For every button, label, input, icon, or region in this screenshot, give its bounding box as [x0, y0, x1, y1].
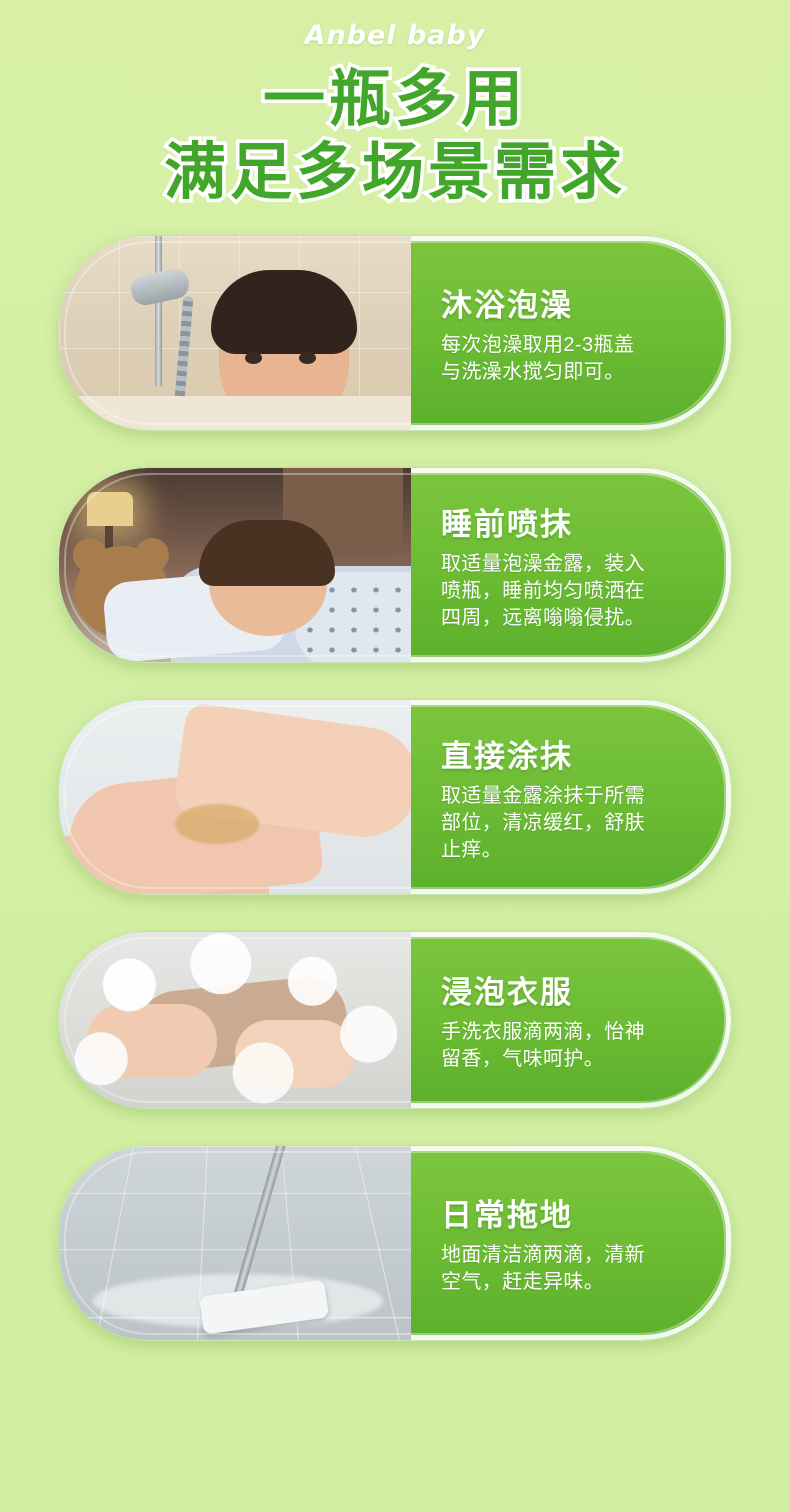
scenario-card-soak-clothes-body: 浸泡衣服 手洗衣服滴两滴，怡神 留香，气味呵护。 — [411, 932, 731, 1108]
usage-scenario-list: 沐浴泡澡 每次泡澡取用2-3瓶盖 与洗澡水搅匀即可。 睡前喷抹 取适量泡澡金露，… — [0, 235, 790, 1341]
scenario-card-mop-floor[interactable]: 日常拖地 地面清洁滴两滴，清新 空气，赶走异味。 — [58, 1145, 732, 1341]
scenario-title: 日常拖地 — [441, 1190, 705, 1235]
scenario-card-soak-clothes[interactable]: 浸泡衣服 手洗衣服滴两滴，怡神 留香，气味呵护。 — [58, 931, 732, 1109]
scenario-description: 地面清洁滴两滴，清新 空气，赶走异味。 — [441, 1242, 705, 1296]
scenario-title: 浸泡衣服 — [441, 967, 705, 1012]
scenario-title: 直接涂抹 — [441, 731, 705, 776]
scenario-card-mop-floor-body: 日常拖地 地面清洁滴两滴，清新 空气，赶走异味。 — [411, 1146, 731, 1340]
scenario-title: 睡前喷抹 — [441, 499, 705, 544]
headline-line-1: 一瓶多用 — [0, 63, 790, 136]
scenario-card-bath[interactable]: 沐浴泡澡 每次泡澡取用2-3瓶盖 与洗澡水搅匀即可。 — [58, 235, 732, 431]
scenario-card-bedtime-spray-body: 睡前喷抹 取适量泡澡金露，装入 喷瓶，睡前均匀喷洒在 四周，远离嗡嗡侵扰。 — [411, 468, 731, 662]
child-sleeping-bedroom-photo — [59, 468, 411, 662]
scenario-card-direct-apply-body: 直接涂抹 取适量金露涂抹于所需 部位，清凉缓红，舒肤 止痒。 — [411, 700, 731, 894]
scenario-description: 取适量金露涂抹于所需 部位，清凉缓红，舒肤 止痒。 — [441, 783, 705, 865]
scenario-description: 手洗衣服滴两滴，怡神 留香，气味呵护。 — [441, 1019, 705, 1073]
hands-applying-gel-photo — [59, 700, 411, 894]
scenario-title: 沐浴泡澡 — [441, 280, 705, 325]
hand-washing-clothes-foam-photo — [59, 932, 411, 1108]
brand-title: Anbel baby — [0, 0, 790, 51]
mopping-floor-photo — [59, 1146, 411, 1340]
scenario-description: 每次泡澡取用2-3瓶盖 与洗澡水搅匀即可。 — [441, 332, 705, 386]
scenario-card-direct-apply[interactable]: 直接涂抹 取适量金露涂抹于所需 部位，清凉缓红，舒肤 止痒。 — [58, 699, 732, 895]
page-headline: 一瓶多用 满足多场景需求 — [0, 63, 790, 209]
child-shower-bath-photo — [59, 236, 411, 430]
headline-line-2: 满足多场景需求 — [0, 136, 790, 209]
scenario-description: 取适量泡澡金露，装入 喷瓶，睡前均匀喷洒在 四周，远离嗡嗡侵扰。 — [441, 551, 705, 633]
scenario-card-bedtime-spray[interactable]: 睡前喷抹 取适量泡澡金露，装入 喷瓶，睡前均匀喷洒在 四周，远离嗡嗡侵扰。 — [58, 467, 732, 663]
scenario-card-bath-body: 沐浴泡澡 每次泡澡取用2-3瓶盖 与洗澡水搅匀即可。 — [411, 236, 731, 430]
